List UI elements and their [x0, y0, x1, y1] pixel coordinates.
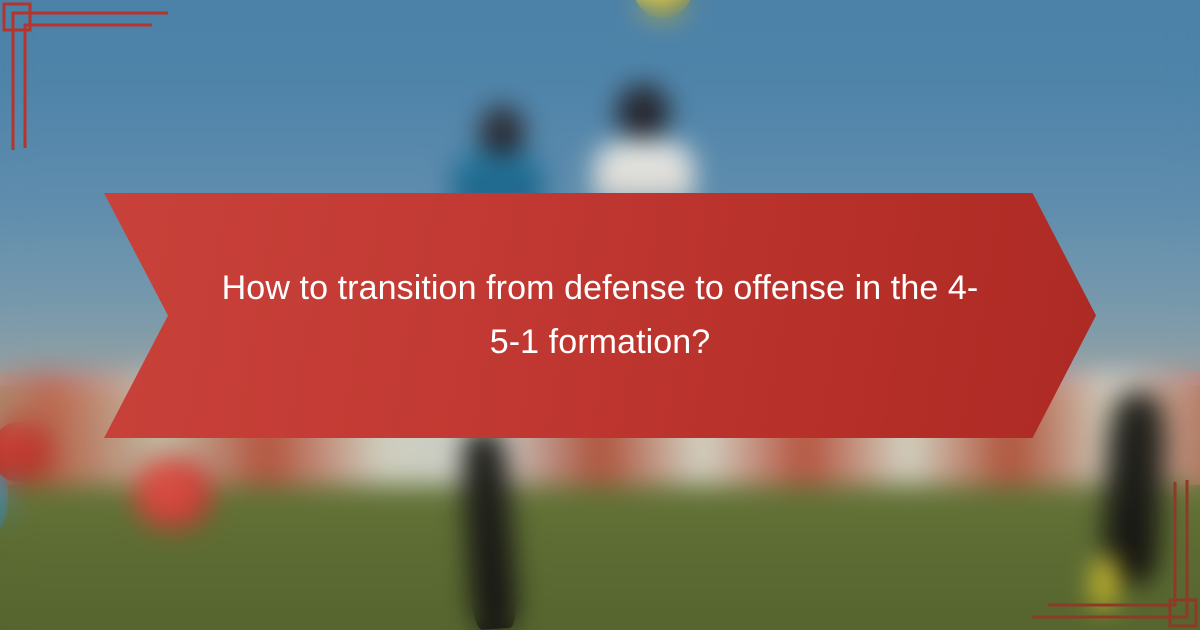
title-banner: How to transition from defense to offens… — [104, 193, 1096, 438]
banner-title-text: How to transition from defense to offens… — [208, 193, 992, 438]
poster-canvas: How to transition from defense to offens… — [0, 0, 1200, 630]
